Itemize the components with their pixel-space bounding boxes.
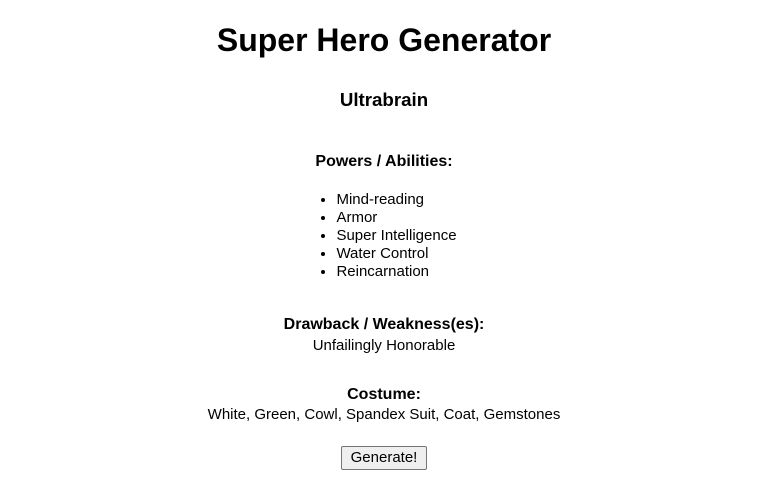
list-item: Mind-reading <box>336 191 456 209</box>
generate-button[interactable]: Generate! <box>341 446 428 470</box>
list-item: Armor <box>336 209 456 227</box>
drawback-heading: Drawback / Weakness(es): <box>0 315 768 334</box>
costume-section: Costume: White, Green, Cowl, Spandex Sui… <box>0 385 768 424</box>
costume-value: White, Green, Cowl, Spandex Suit, Coat, … <box>0 404 768 424</box>
hero-name: Ultrabrain <box>0 59 768 111</box>
costume-heading: Costume: <box>0 385 768 404</box>
drawback-section: Drawback / Weakness(es): Unfailingly Hon… <box>0 315 768 354</box>
powers-list: Mind-reading Armor Super Intelligence Wa… <box>311 191 456 281</box>
list-item: Water Control <box>336 245 456 263</box>
button-row: Generate! <box>0 446 768 470</box>
page-title: Super Hero Generator <box>0 0 768 59</box>
powers-section: Powers / Abilities: Mind-reading Armor S… <box>0 110 768 281</box>
powers-heading: Powers / Abilities: <box>0 110 768 171</box>
drawback-value: Unfailingly Honorable <box>0 335 768 355</box>
list-item: Super Intelligence <box>336 227 456 245</box>
list-item: Reincarnation <box>336 263 456 281</box>
super-hero-generator-page: Super Hero Generator Ultrabrain Powers /… <box>0 0 768 480</box>
